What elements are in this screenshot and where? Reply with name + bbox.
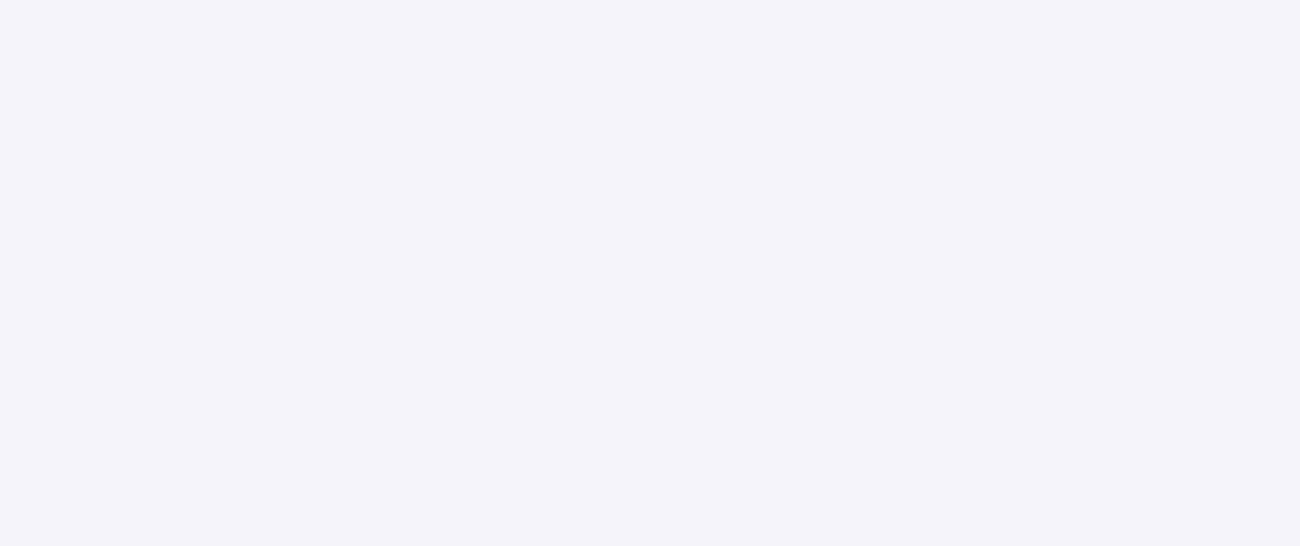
guarantee-card-round-the-clock-help[interactable] [659, 152, 866, 272]
guarantee-card-high-trust-rating[interactable] [659, 292, 866, 412]
card-label [213, 152, 420, 272]
card-label [659, 292, 866, 412]
card-label [659, 152, 866, 272]
card-label [437, 164, 644, 284]
card-label [882, 164, 1089, 284]
card-label [882, 304, 1089, 424]
card-label [213, 292, 420, 412]
guarantees-card-grid [205, 140, 1105, 430]
guarantee-card-affordable-prices[interactable] [213, 292, 420, 412]
guarantee-card-federal-network[interactable] [437, 304, 644, 424]
guarantee-card-intensive-therapy[interactable] [882, 304, 1089, 424]
guarantee-card-anonymity[interactable] [213, 152, 420, 272]
infographic-canvas [0, 0, 1300, 546]
guarantee-card-effective-medicines[interactable] [882, 164, 1089, 284]
guarantee-card-discreet-transport[interactable] [437, 164, 644, 284]
card-label [437, 304, 644, 424]
